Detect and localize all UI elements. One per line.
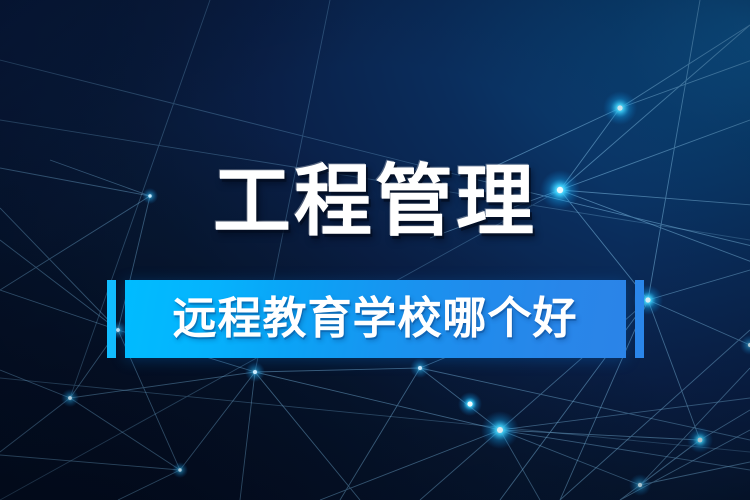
accent-bar-right	[635, 280, 644, 358]
subtitle-container: 远程教育学校哪个好	[0, 280, 750, 358]
title-container: 工程管理	[0, 163, 750, 241]
promo-banner: 工程管理 远程教育学校哪个好	[0, 0, 750, 500]
page-title: 工程管理	[213, 163, 537, 241]
subtitle-banner: 远程教育学校哪个好	[125, 280, 626, 358]
background-vignette	[0, 0, 750, 500]
accent-bar-left	[107, 280, 116, 358]
subtitle-text: 远程教育学校哪个好	[173, 297, 578, 341]
